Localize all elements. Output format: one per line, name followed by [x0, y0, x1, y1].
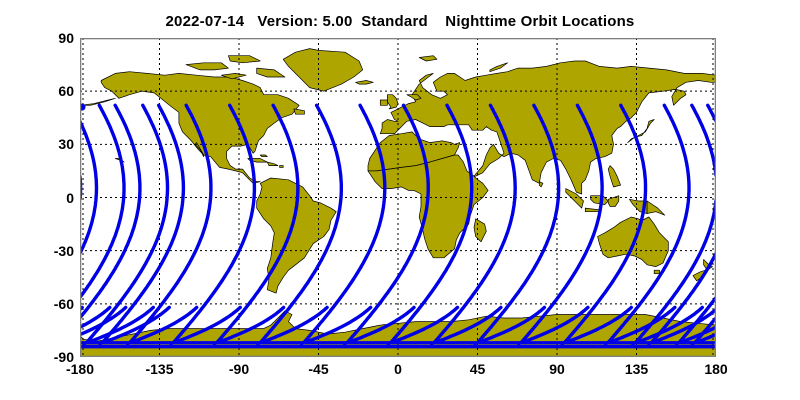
landmass [380, 100, 387, 105]
x-tick-label: 45 [448, 361, 508, 377]
landmass [654, 270, 659, 274]
y-tick-label: 60 [14, 83, 74, 99]
x-tick-label: 0 [368, 361, 428, 377]
orbit-map-figure: 2022-07-14 Version: 5.00 Standard Nightt… [0, 0, 800, 400]
y-tick-label: 90 [14, 30, 74, 46]
x-tick-label: -180 [50, 361, 110, 377]
x-tick-label: -90 [209, 361, 269, 377]
y-tick-label: 0 [14, 190, 74, 206]
x-tick-label: -45 [289, 361, 349, 377]
y-tick-label: -30 [14, 243, 74, 259]
y-tick-label: 30 [14, 136, 74, 152]
x-tick-label: 135 [607, 361, 667, 377]
page-title: 2022-07-14 Version: 5.00 Standard Nightt… [0, 13, 800, 30]
x-tick-label: -135 [130, 361, 190, 377]
landmass [260, 155, 267, 157]
landmass [280, 166, 284, 168]
plot-area [80, 38, 716, 357]
world-map-plot [80, 38, 716, 357]
y-tick-label: -60 [14, 296, 74, 312]
x-tick-label: 180 [686, 361, 746, 377]
x-tick-label: 90 [527, 361, 587, 377]
